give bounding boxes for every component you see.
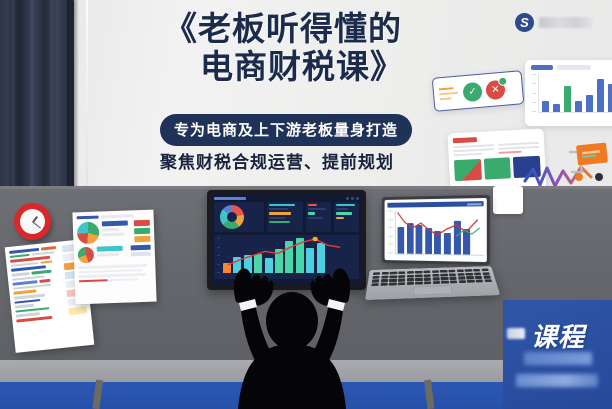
screen-stats-panel	[267, 202, 303, 232]
badge-dot-icon	[498, 76, 508, 86]
laptop-trend-line	[396, 209, 484, 254]
desk-small-card	[493, 186, 523, 214]
laptop-display	[385, 198, 487, 262]
cross-icon: ✕	[485, 79, 506, 100]
bottom-panel-word: 课程	[531, 317, 585, 354]
brand-logo-group: S	[515, 13, 592, 32]
doc-donut-chart-2	[78, 247, 95, 264]
screen-top-panels	[214, 202, 359, 232]
doc-donut-chart	[77, 222, 100, 245]
title-line-2: 电商财税课》	[108, 50, 458, 84]
bottom-panel-line1-redacted	[524, 352, 592, 365]
subtitle-text: 聚焦财税合规运营、提前规划	[160, 148, 394, 173]
check-icon: ✓	[462, 81, 483, 102]
screen-list-panel	[334, 202, 359, 232]
laptop-keyboard-base	[365, 266, 500, 300]
laptop-screen-lid	[382, 195, 490, 265]
brand-name-redacted	[539, 17, 592, 28]
laptop-trackpad[interactable]	[413, 286, 453, 296]
screen-kpi-panel	[306, 202, 331, 232]
poster-canvas: 《老板听得懂的 电商财税课》 专为电商及上下游老板量身打造 聚焦财税合规运营、提…	[0, 0, 612, 409]
laptop-keyboard[interactable]	[371, 269, 492, 287]
person-silhouette	[206, 266, 378, 409]
card-header	[531, 65, 612, 70]
report-card-title	[453, 137, 477, 143]
title-line-1: 《老板听得懂的	[108, 12, 458, 46]
clock-minute-hand	[32, 221, 41, 228]
card-bar-plot	[538, 74, 612, 113]
subtitle-badge: 专为电商及上下游老板量身打造	[160, 114, 412, 146]
bar-chart-card	[525, 60, 612, 126]
screen-donut-panel	[214, 202, 264, 232]
orange-cart-icon	[566, 142, 610, 184]
bottom-panel-line2-redacted	[516, 374, 598, 387]
wall-seam	[86, 0, 88, 186]
cross-glyph: ✕	[491, 84, 500, 96]
wall-clock	[14, 203, 51, 240]
clock-face	[20, 209, 45, 234]
brand-swoosh-icon: S	[515, 13, 534, 32]
laptop-app-header	[387, 201, 483, 208]
card-text-lines	[439, 86, 460, 100]
report-document	[72, 210, 156, 305]
curtain	[0, 0, 74, 190]
screen-header	[214, 197, 359, 200]
bottom-panel-prefix-redacted	[507, 328, 525, 339]
headline-block: 《老板听得懂的 电商财税课》	[108, 12, 458, 83]
laptop-bar-plot	[395, 209, 484, 255]
donut-chart	[220, 205, 244, 229]
